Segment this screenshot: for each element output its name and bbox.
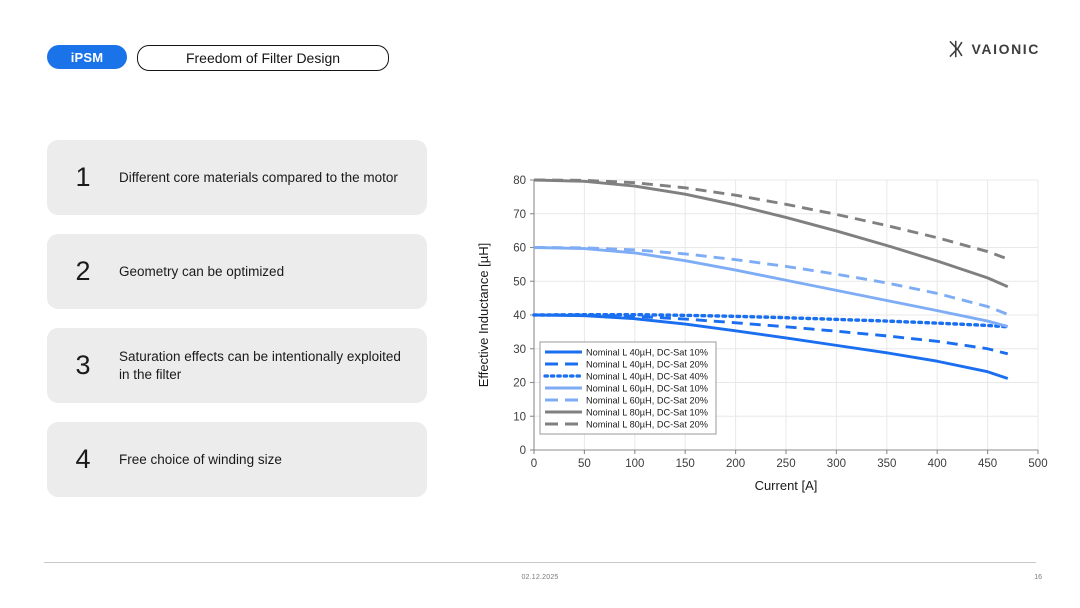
list-item-label: Geometry can be optimized	[119, 263, 284, 281]
legend-label: Nominal L 80µH, DC-Sat 10%	[586, 408, 708, 418]
x-axis-label: Current [A]	[755, 478, 818, 493]
y-axis-label: Effective Inductance [µH]	[476, 243, 491, 388]
y-tick-label: 20	[513, 378, 526, 390]
legend-label: Nominal L 40µH, DC-Sat 20%	[586, 360, 708, 370]
legend-label: Nominal L 40µH, DC-Sat 40%	[586, 372, 708, 382]
legend-label: Nominal L 40µH, DC-Sat 10%	[586, 348, 708, 358]
footer-date: 02.12.2025	[0, 574, 1080, 581]
footer-divider	[44, 562, 1036, 563]
inductance-chart: 0501001502002503003504004505000102030405…	[470, 150, 1070, 510]
y-tick-label: 80	[513, 175, 526, 187]
x-tick-label: 200	[726, 458, 745, 470]
x-tick-label: 500	[1028, 458, 1047, 470]
page-title: Freedom of Filter Design	[186, 50, 340, 66]
list-item-number: 3	[47, 352, 119, 379]
x-tick-label: 300	[827, 458, 846, 470]
y-tick-label: 30	[513, 344, 526, 356]
y-tick-label: 60	[513, 243, 526, 255]
list-item: 4 Free choice of winding size	[47, 422, 427, 497]
brand-name: VAIONIC	[972, 41, 1041, 57]
x-tick-label: 50	[578, 458, 591, 470]
x-tick-label: 350	[877, 458, 896, 470]
x-tick-label: 250	[776, 458, 795, 470]
slide-header: iPSM Freedom of Filter Design VAIONIC	[0, 0, 1080, 100]
legend-label: Nominal L 80µH, DC-Sat 20%	[586, 420, 708, 430]
y-tick-label: 40	[513, 310, 526, 322]
takeaways-list: 1 Different core materials compared to t…	[47, 140, 427, 516]
x-tick-label: 100	[625, 458, 644, 470]
ipsm-badge-label: iPSM	[71, 50, 104, 65]
y-tick-label: 50	[513, 276, 526, 288]
ipsm-badge: iPSM	[47, 45, 127, 69]
list-item: 3 Saturation effects can be intentionall…	[47, 328, 427, 403]
x-tick-label: 400	[928, 458, 947, 470]
x-tick-label: 450	[978, 458, 997, 470]
list-item-number: 2	[47, 258, 119, 285]
footer-page-number: 16	[1034, 574, 1042, 581]
slide-title-pill: Freedom of Filter Design	[137, 45, 389, 71]
x-tick-label: 0	[531, 458, 537, 470]
series-line	[534, 180, 1008, 287]
y-tick-label: 10	[513, 411, 526, 423]
y-tick-label: 70	[513, 209, 526, 221]
y-tick-label: 0	[520, 445, 526, 457]
list-item-number: 4	[47, 446, 119, 473]
inductance-chart-svg: 0501001502002503003504004505000102030405…	[470, 150, 1070, 510]
list-item-label: Free choice of winding size	[119, 451, 282, 469]
list-item: 1 Different core materials compared to t…	[47, 140, 427, 215]
legend-label: Nominal L 60µH, DC-Sat 20%	[586, 396, 708, 406]
list-item-label: Different core materials compared to the…	[119, 169, 398, 187]
x-tick-label: 150	[676, 458, 695, 470]
list-item-number: 1	[47, 164, 119, 191]
vaionic-x-mark-icon	[947, 39, 967, 59]
brand-logo: VAIONIC	[947, 39, 1041, 59]
list-item-label: Saturation effects can be intentionally …	[119, 348, 409, 384]
legend-label: Nominal L 60µH, DC-Sat 10%	[586, 384, 708, 394]
list-item: 2 Geometry can be optimized	[47, 234, 427, 309]
